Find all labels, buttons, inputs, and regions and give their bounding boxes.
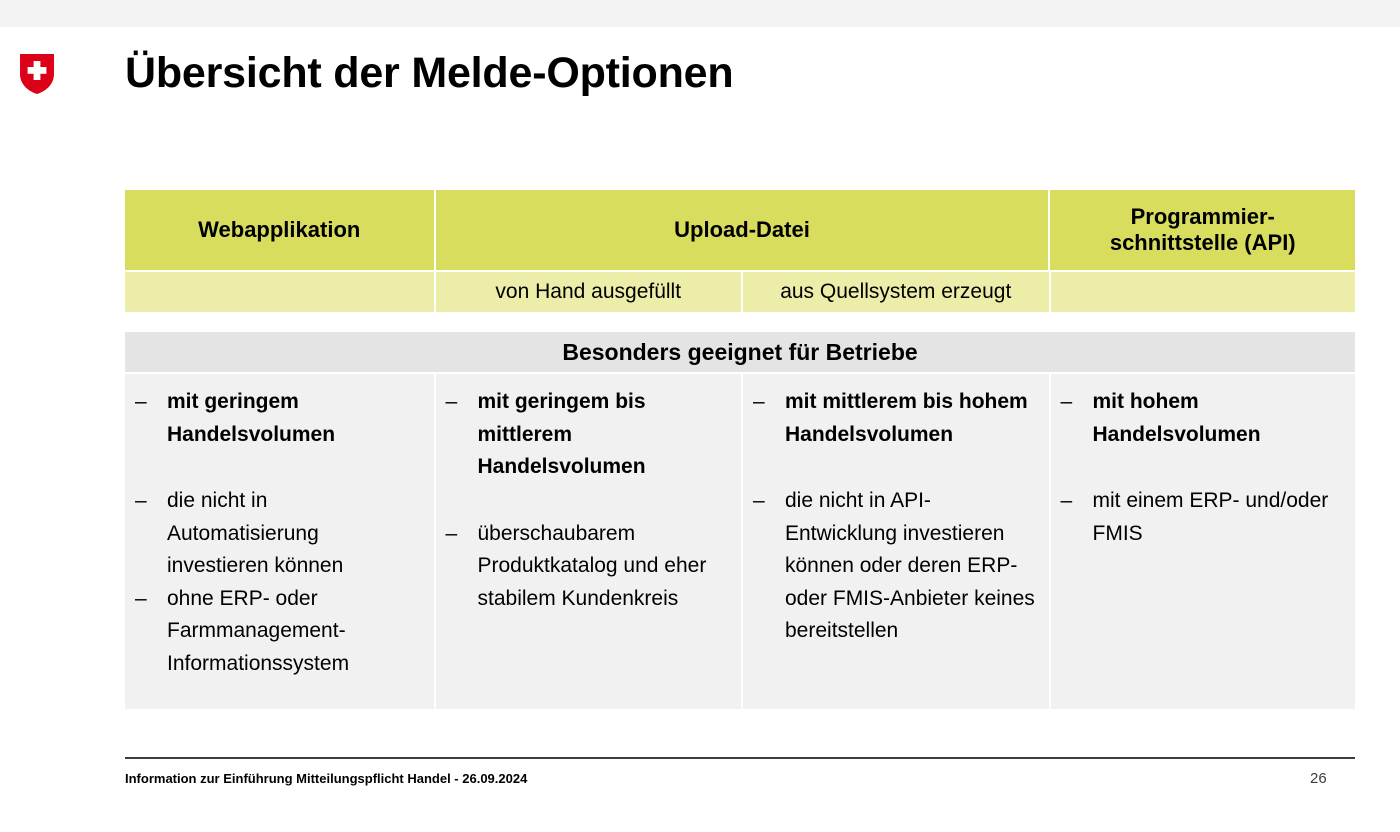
header-cell-api: Programmier- schnittstelle (API) [1050,190,1355,270]
table-subheader-row: von Hand ausgefüllt aus Quellsystem erze… [125,272,1355,312]
footer-divider [125,757,1355,759]
list-item: – mit geringem bis mittlerem Handelsvolu… [446,386,732,484]
content-cell-webapplikation: – mit geringem Handelsvolumen – die nich… [125,374,434,709]
bullet-dash: – [753,386,785,451]
list-item-text: die nicht in API-Entwicklung investieren… [785,485,1039,648]
list-item: – ohne ERP- oder Farmmanagement-Informat… [135,583,424,681]
bullet-dash: – [446,386,478,484]
list-item-text: mit geringem bis mittlerem Handelsvolume… [478,386,732,484]
section-band-label: Besonders geeignet für Betriebe [562,339,917,366]
table-header-row: Webapplikation Upload-Datei Programmier-… [125,190,1355,270]
content-cell-api: – mit hohem Handelsvolumen – mit einem E… [1051,374,1356,709]
spacer [1061,451,1346,485]
spacer [446,484,732,518]
bullet-dash: – [446,518,478,616]
header-api-line-2: schnittstelle (API) [1110,230,1296,255]
list-item: – überschaubarem Produktkatalog und eher… [446,518,732,616]
subheader-cell-aus-quellsystem: aus Quellsystem erzeugt [743,272,1049,312]
list-item-text: mit hohem Handelsvolumen [1093,386,1346,451]
bullet-dash: – [135,485,167,583]
list-item: – mit hohem Handelsvolumen [1061,386,1346,451]
page-title: Übersicht der Melde-Optionen [125,49,733,98]
slide: Übersicht der Melde-Optionen Webapplikat… [0,0,1400,832]
list-item-text: überschaubarem Produktkatalog und eher s… [478,518,732,616]
bullet-dash: – [135,386,167,451]
list-item-text: mit mittlerem bis hohem Handelsvolumen [785,386,1039,451]
list-item: – mit mittlerem bis hohem Handelsvolumen [753,386,1039,451]
spacer [135,451,424,485]
bullet-dash: – [1061,485,1093,550]
list-item-text: die nicht in Automatisierung investieren… [167,485,424,583]
slide-header: Übersicht der Melde-Optionen [0,27,1400,137]
table-content-row: – mit geringem Handelsvolumen – die nich… [125,374,1355,709]
footer-text: Information zur Einführung Mitteilungspf… [125,771,527,786]
spacer [753,451,1039,485]
subheader-cell-empty-left [125,272,434,312]
list-item: – die nicht in Automatisierung investier… [135,485,424,583]
list-item: – die nicht in API-Entwicklung investier… [753,485,1039,648]
list-item-text: mit einem ERP- und/oder FMIS [1093,485,1346,550]
content-cell-upload-von-hand: – mit geringem bis mittlerem Handelsvolu… [436,374,742,709]
section-band: Besonders geeignet für Betriebe [125,332,1355,372]
subheader-cell-von-hand: von Hand ausgefüllt [436,272,742,312]
content-cell-upload-aus-quellsystem: – mit mittlerem bis hohem Handelsvolumen… [743,374,1049,709]
bullet-dash: – [1061,386,1093,451]
header-cell-webapplikation: Webapplikation [125,190,434,270]
top-strip [0,0,1400,27]
subheader-cell-empty-right [1051,272,1356,312]
list-item: – mit geringem Handelsvolumen [135,386,424,451]
list-item-text: ohne ERP- oder Farmmanagement-Informatio… [167,583,424,681]
header-cell-upload-datei: Upload-Datei [436,190,1049,270]
list-item: – mit einem ERP- und/oder FMIS [1061,485,1346,550]
options-table: Webapplikation Upload-Datei Programmier-… [125,190,1355,709]
header-api-line-1: Programmier- [1131,204,1275,229]
list-item-text: mit geringem Handelsvolumen [167,386,424,451]
bullet-dash: – [135,583,167,681]
swiss-coat-of-arms-icon [20,54,54,94]
footer-page-number: 26 [1310,770,1355,787]
bullet-dash: – [753,485,785,648]
